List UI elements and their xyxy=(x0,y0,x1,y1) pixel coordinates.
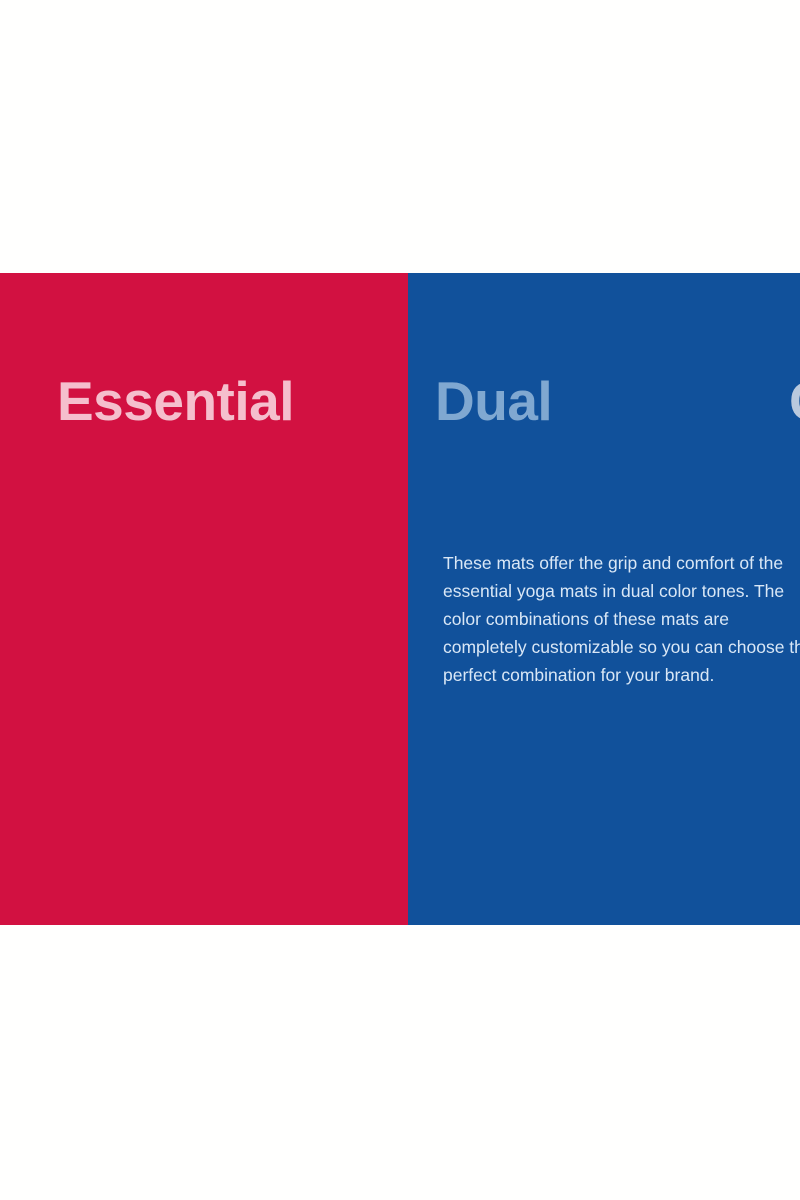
dual-description-text: These mats offer the grip and comfort of… xyxy=(443,549,800,689)
heading-next-clipped: C xyxy=(789,374,800,429)
heading-essential: Essential xyxy=(57,374,294,429)
slide-canvas: Essential Dual C These mats offer the gr… xyxy=(0,0,800,1200)
heading-dual: Dual xyxy=(435,374,552,429)
